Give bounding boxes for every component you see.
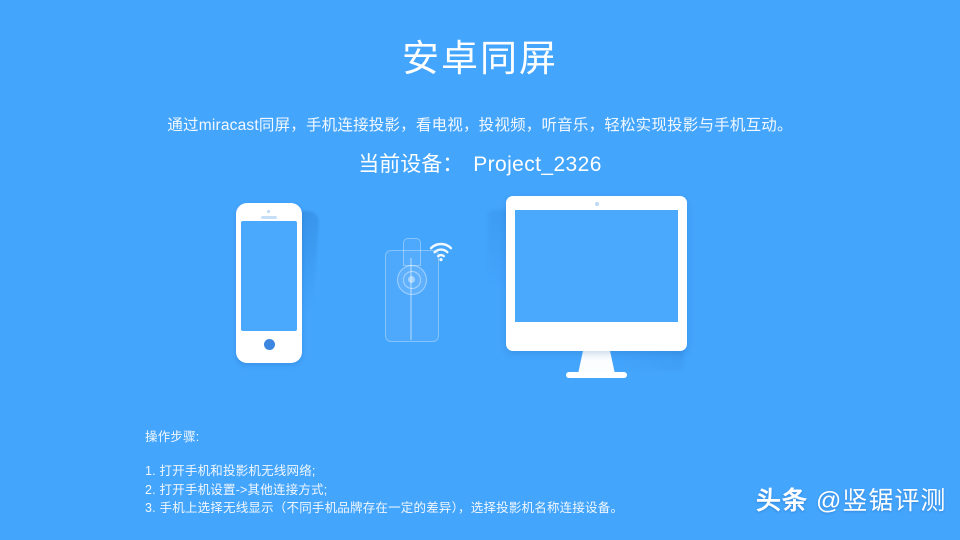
list-item: 2. 打开手机设置->其他连接方式; <box>145 481 623 500</box>
page-title: 安卓同屏 <box>0 38 960 80</box>
dongle-body <box>385 250 439 342</box>
android-screen-mirroring-slide: 安卓同屏 通过miracast同屏，手机连接投影，看电视，投视频，听音乐，轻松实… <box>0 0 960 540</box>
monitor-stand-base <box>566 372 627 378</box>
wifi-icon <box>428 240 454 262</box>
dongle-lens-inner <box>408 276 415 283</box>
watermark-platform: 头条 <box>756 487 808 515</box>
steps-heading: 操作步骤: <box>145 428 623 446</box>
monitor-frame <box>506 196 687 351</box>
page-subtitle: 通过miracast同屏，手机连接投影，看电视，投视频，听音乐，轻松实现投影与手… <box>0 115 960 137</box>
current-device-line: 当前设备：Project_2326 <box>0 150 960 180</box>
monitor-illustration <box>506 196 706 382</box>
list-item: 1. 打开手机和投影机无线网络; <box>145 462 623 481</box>
phone-speaker-icon <box>261 216 277 219</box>
instruction-steps: 操作步骤: 1. 打开手机和投影机无线网络; 2. 打开手机设置->其他连接方式… <box>145 428 623 518</box>
watermark-handle: @竖锯评测 <box>816 487 946 515</box>
phone-body <box>236 203 302 363</box>
phone-screen <box>241 221 297 331</box>
monitor-screen <box>515 210 678 322</box>
phone-camera-icon <box>267 210 270 213</box>
current-device-name: Project_2326 <box>473 153 602 176</box>
wireless-dongle-illustration <box>385 238 455 343</box>
steps-list: 1. 打开手机和投影机无线网络; 2. 打开手机设置->其他连接方式; 3. 手… <box>145 462 623 518</box>
monitor-camera-icon <box>595 202 599 206</box>
smartphone-illustration <box>236 203 302 363</box>
current-device-label: 当前设备： <box>358 153 463 176</box>
monitor-stand-neck <box>578 350 615 374</box>
watermark: 头条 @竖锯评测 <box>756 486 946 516</box>
phone-home-button-icon <box>264 339 275 350</box>
list-item: 3. 手机上选择无线显示（不同手机品牌存在一定的差异），选择投影机名称连接设备。 <box>145 499 623 518</box>
